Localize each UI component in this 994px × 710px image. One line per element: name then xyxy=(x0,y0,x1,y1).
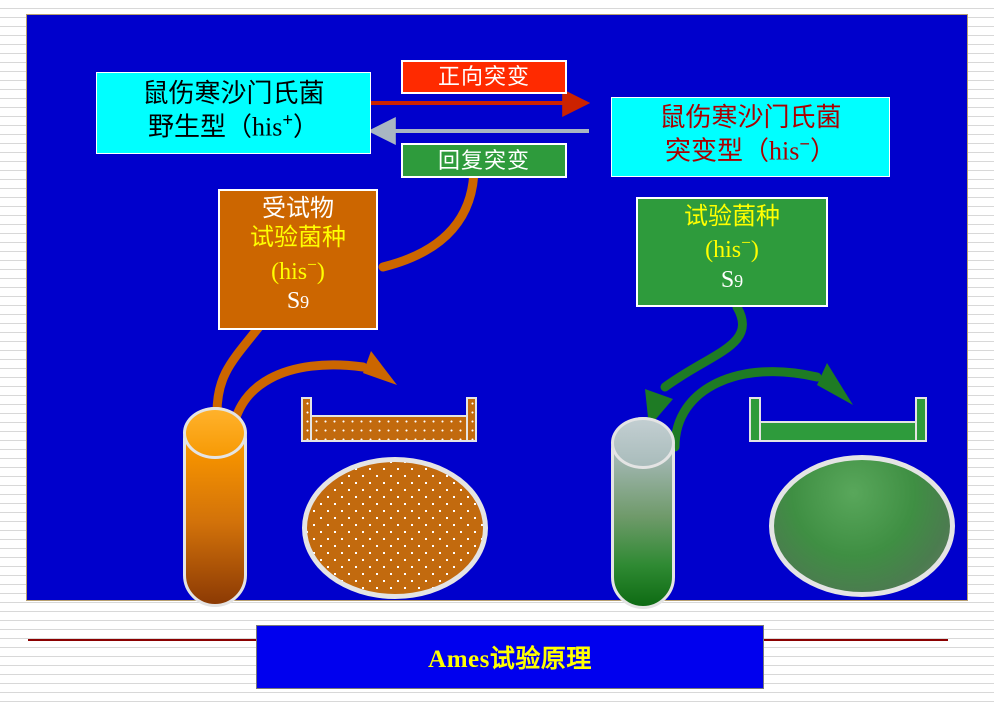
test-box-line4: S9 xyxy=(220,287,376,316)
test-box-line2: 试验菌种 xyxy=(220,224,376,253)
forward-mutation-label: 正向突变 xyxy=(401,60,567,94)
orange-tray-agar xyxy=(310,415,468,442)
test-substance-box: 受试物 试验菌种 (his−) S9 xyxy=(218,189,378,330)
test-box-s9-letter: S xyxy=(287,288,300,314)
back-mutation-text: 回复突变 xyxy=(438,149,530,172)
orange-agar-tray xyxy=(301,397,477,445)
green-tray-agar xyxy=(759,421,917,442)
wild-type-strain-box: 鼠伤寒沙门氏菌 野生型（his+） xyxy=(96,72,371,154)
control-box-s9-letter: S xyxy=(721,267,734,293)
test-box-s9-subscript: 9 xyxy=(300,292,309,312)
mutant-line2-suffix: ） xyxy=(810,136,836,165)
wild-type-line2-prefix: 野生型（his xyxy=(148,112,282,141)
control-strain-box: 试验菌种 (his−) S9 xyxy=(636,197,828,307)
test-box-line3: (his−) xyxy=(220,254,376,287)
test-box-line3-superscript: − xyxy=(307,255,317,274)
control-box-line2-suffix: ) xyxy=(751,237,759,263)
orange-test-tube-opening xyxy=(183,407,247,459)
orange-test-tube xyxy=(183,407,247,607)
green-agar-tray xyxy=(749,397,927,445)
slide-panel: 鼠伤寒沙门氏菌 野生型（his+） 鼠伤寒沙门氏菌 突变型（his−） 正向突变… xyxy=(26,14,968,601)
mutant-line2: 突变型（his−） xyxy=(612,134,889,167)
green-petri-dish-no-colonies xyxy=(769,455,955,597)
control-box-line2-superscript: − xyxy=(741,233,751,252)
test-box-line3-prefix: (his xyxy=(271,259,307,285)
mutant-line2-prefix: 突变型（his xyxy=(665,136,799,165)
wild-type-superscript: + xyxy=(282,110,293,131)
slide-caption-text: Ames试验原理 xyxy=(428,639,592,675)
control-box-line2: (his−) xyxy=(638,232,826,265)
orange-petri-dish-with-colonies xyxy=(302,457,488,599)
forward-mutation-text: 正向突变 xyxy=(438,65,530,88)
green-control-tube xyxy=(611,417,675,609)
wild-type-line1: 鼠伤寒沙门氏菌 xyxy=(97,79,370,110)
slide-caption: Ames试验原理 xyxy=(256,625,764,689)
mutant-strain-box: 鼠伤寒沙门氏菌 突变型（his−） xyxy=(611,97,890,177)
green-control-tube-opening xyxy=(611,417,675,469)
control-box-line2-prefix: (his xyxy=(705,237,741,263)
back-mutation-label: 回复突变 xyxy=(401,143,567,178)
control-box-line1: 试验菌种 xyxy=(638,203,826,232)
green-inoculate-tube-arrow xyxy=(645,307,743,427)
test-box-line1: 受试物 xyxy=(220,195,376,224)
control-box-s9-subscript: 9 xyxy=(734,271,743,291)
test-box-line3-suffix: ) xyxy=(317,259,325,285)
back-mutation-curve-arrow xyxy=(383,167,474,267)
control-box-line3: S9 xyxy=(638,266,826,295)
wild-type-line2-suffix: ） xyxy=(293,112,319,141)
wild-type-line2: 野生型（his+） xyxy=(97,110,370,143)
mutant-superscript: − xyxy=(799,134,810,155)
mutant-line1: 鼠伤寒沙门氏菌 xyxy=(612,103,889,134)
